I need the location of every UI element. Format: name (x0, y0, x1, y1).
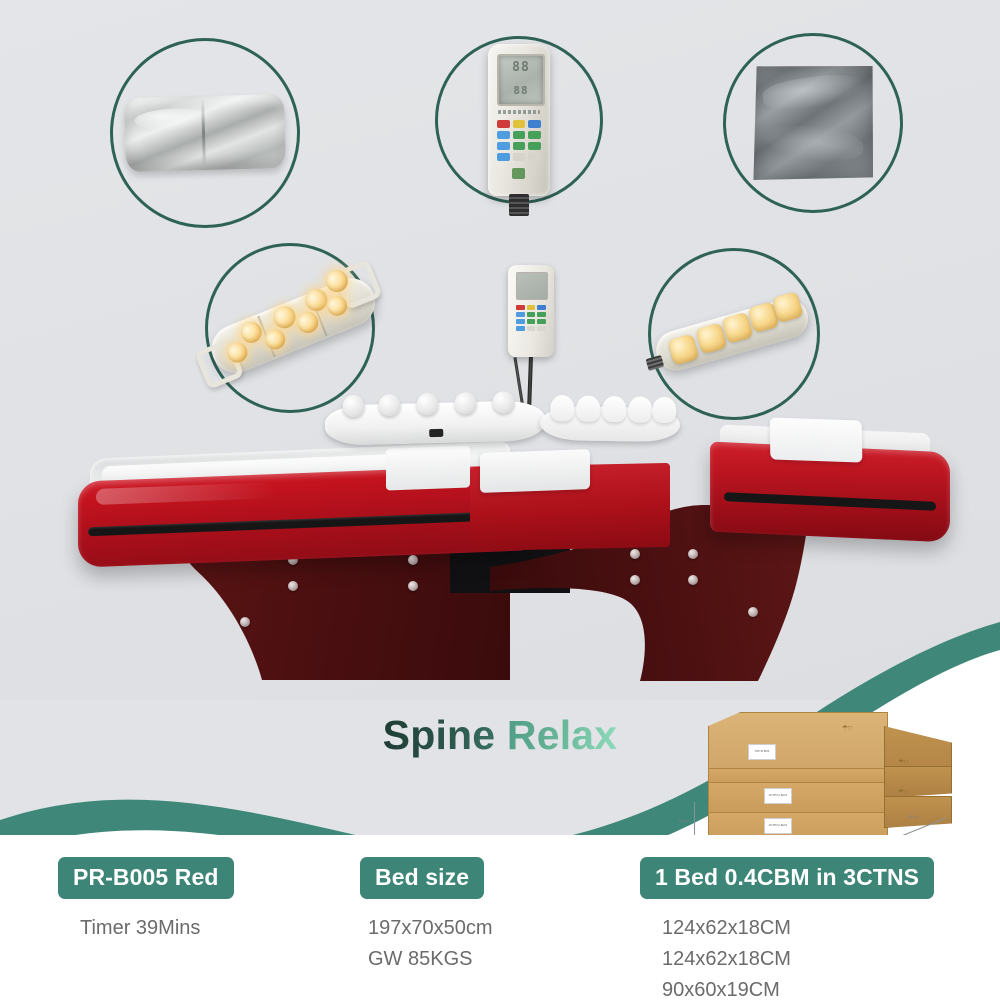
spec-line-ctn-2: 124x62x18CM (640, 945, 934, 974)
carton-bottom-side (884, 796, 952, 828)
spec-badge-model: PR-B005 Red (58, 857, 234, 899)
blanket-inset-content (726, 36, 900, 210)
carton-packing-illustration: TOP IN BOX 2K PPI IC BoX1 2K PPI IC BoX1… (660, 706, 970, 846)
fragile-mark-icon-2: ☂↑↑ (898, 760, 909, 767)
spec-column-bed-size: Bed size 197x70x50cm GW 85KGS (360, 857, 493, 974)
blanket-icon (751, 64, 875, 182)
carton-label-bottom: 2K PPI IC BoX1 (764, 818, 792, 834)
spec-column-packing: 1 Bed 0.4CBM in 3CTNS 124x62x18CM 124x62… (640, 857, 934, 1000)
jade-probe-inset-content (651, 251, 817, 417)
feature-circle-jade-roller (205, 243, 375, 413)
pillow-icon (124, 94, 286, 172)
spec-line-weight: GW 85KGS (360, 945, 493, 974)
carton-label-top: TOP IN BOX (748, 744, 776, 760)
controller-screen: 88 88 (497, 54, 545, 106)
bed-mounted-controller (500, 265, 570, 415)
spec-line-ctn-1: 124x62x18CM (640, 914, 934, 943)
title-word-spine: Spine (383, 712, 507, 758)
carton-top-face (708, 712, 888, 776)
jade-roller-icon (198, 257, 382, 398)
carton-middle-side (884, 766, 952, 798)
feature-circle-controller: 88 88 (435, 36, 603, 204)
controller-display-bottom: 88 (499, 84, 543, 97)
feature-circle-pillow (110, 38, 300, 228)
spec-badge-bed-size: Bed size (360, 857, 484, 899)
jade-probe-icon (649, 283, 819, 385)
fragile-mark-icon-3: ☂↑↑ (898, 790, 909, 797)
controller-cable-icon (509, 194, 529, 216)
bed-seat-pad-center (480, 449, 590, 493)
spec-line-ctn-3: 90x60x19CM (640, 976, 934, 1000)
spec-info-bar: PR-B005 Red Timer 39Mins Bed size 197x70… (0, 835, 1000, 1000)
bed-pad-right (770, 417, 863, 462)
controller-brand-mark (498, 110, 540, 114)
product-stage: 88 88 (0, 0, 1000, 700)
spec-badge-packing: 1 Bed 0.4CBM in 3CTNS (640, 857, 934, 899)
controller-inset-content: 88 88 (438, 39, 600, 201)
feature-circle-blanket (723, 33, 903, 213)
dim-height-label: 18 cm (678, 818, 689, 823)
bed-seat-pad-left (386, 446, 470, 491)
title-word-relax: Relax (507, 712, 617, 758)
mounted-controller-keypad (516, 305, 546, 331)
mounted-controller-icon (508, 265, 554, 357)
carton-label-middle: 2K PPI IC BoX1 (764, 788, 792, 804)
spec-column-model: PR-B005 Red Timer 39Mins (58, 857, 234, 943)
roller-accessory-bar (325, 400, 546, 445)
controller-keypad (497, 120, 541, 161)
pillow-inset-content (113, 41, 297, 225)
controller-display-top: 88 (499, 60, 543, 75)
roller-tray-accessory (540, 406, 681, 442)
carton-middle-front (708, 782, 888, 814)
controller-logo-icon (512, 168, 525, 179)
fragile-mark-icon-1: ☂↑↑ (842, 726, 853, 733)
spec-line-timer: Timer 39Mins (58, 914, 234, 943)
handheld-controller-icon: 88 88 (488, 44, 550, 196)
probe-cable-icon (646, 355, 665, 371)
spec-line-dimensions: 197x70x50cm (360, 914, 493, 943)
product-marketing-image: 88 88 (0, 0, 1000, 1000)
mounted-controller-screen (516, 272, 548, 300)
roller-bar-switch (429, 429, 443, 437)
dim-depth-label: 62 cm (908, 814, 919, 819)
jade-roller-inset-content (208, 246, 372, 410)
